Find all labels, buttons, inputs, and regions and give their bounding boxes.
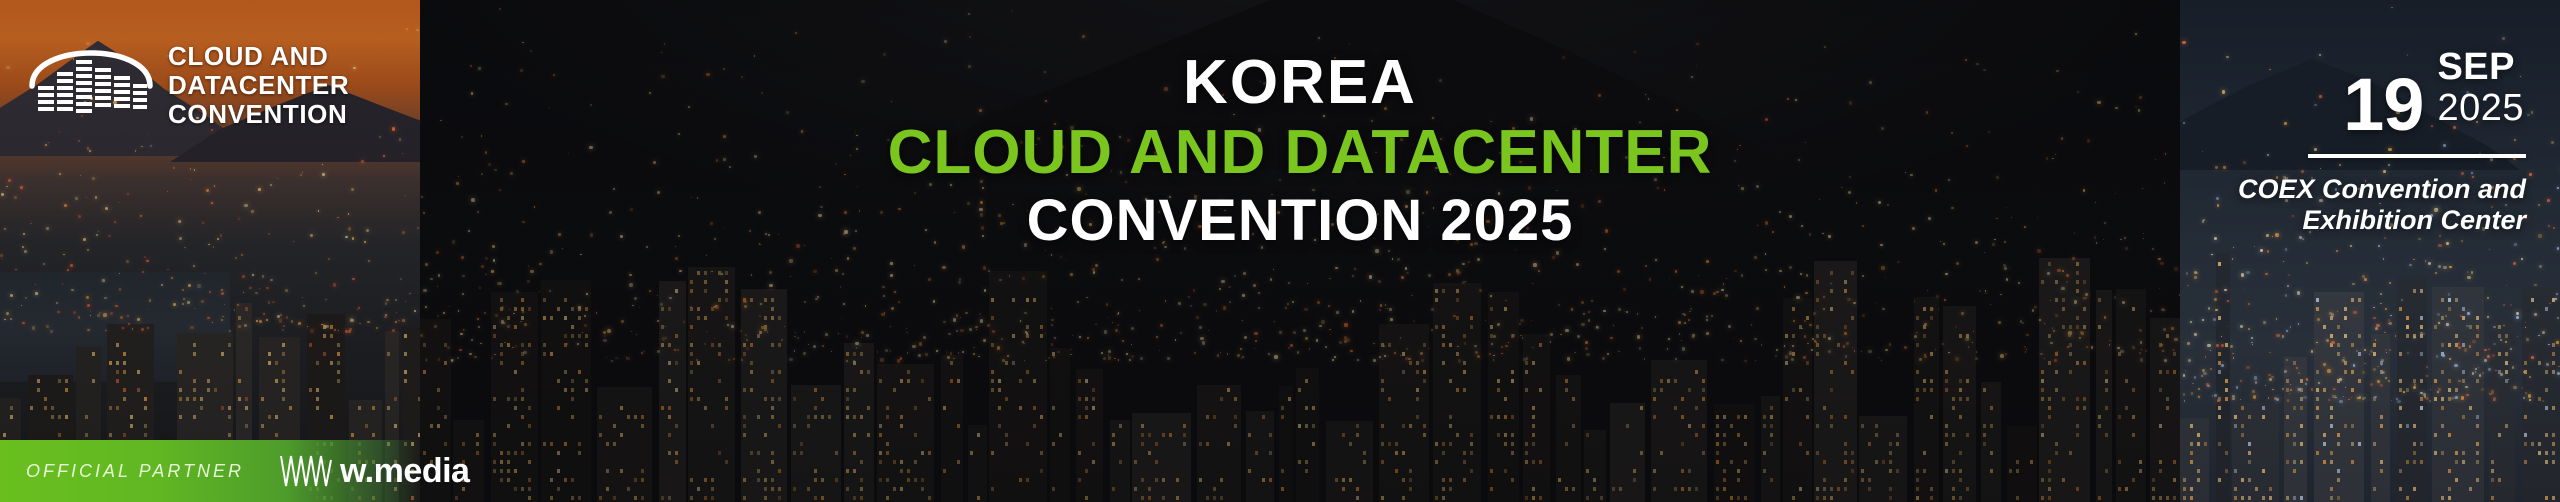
logo-line-1: CLOUD AND [168,42,418,71]
headline-subject: CLOUD AND DATACENTER [420,122,2180,184]
date-year: 2025 [2437,86,2524,130]
date-day: 19 [2343,68,2423,142]
headline-country: KOREA [420,52,2180,114]
venue-line-1: COEX Convention and [2238,174,2526,204]
divider-rule [2308,154,2526,158]
coex-dome-building-logo-icon [26,24,156,116]
date-month-year: SEP 2025 [2437,48,2524,130]
official-partner-label: OFFICIAL PARTNER [26,461,244,482]
logo-line-3: CONVENTION [168,100,418,129]
cdc-logo-text: CLOUD AND DATACENTER CONVENTION [168,42,418,129]
event-headline: KOREA CLOUD AND DATACENTER CONVENTION 20… [420,52,2180,250]
wmedia-logo[interactable]: w.media [278,454,469,488]
date-month: SEP [2437,48,2524,86]
event-banner: CLOUD AND DATACENTER CONVENTION KOREA CL… [0,0,2560,502]
official-partner-bar: OFFICIAL PARTNER w.media [0,440,420,502]
cdc-logo[interactable]: CLOUD AND DATACENTER CONVENTION [18,22,408,122]
event-date-venue: 19 SEP 2025 COEX Convention and Exhibiti… [2188,48,2548,236]
venue-line-2: Exhibition Center [2302,205,2526,235]
event-date: 19 SEP 2025 [2188,48,2548,142]
wmedia-wordmark: w.media [340,454,469,488]
wmedia-zigzag-wave-icon [278,454,334,488]
logo-line-2: DATACENTER [168,71,418,100]
headline-convention-year: CONVENTION 2025 [420,192,2180,250]
venue-name: COEX Convention and Exhibition Center [2188,174,2548,236]
